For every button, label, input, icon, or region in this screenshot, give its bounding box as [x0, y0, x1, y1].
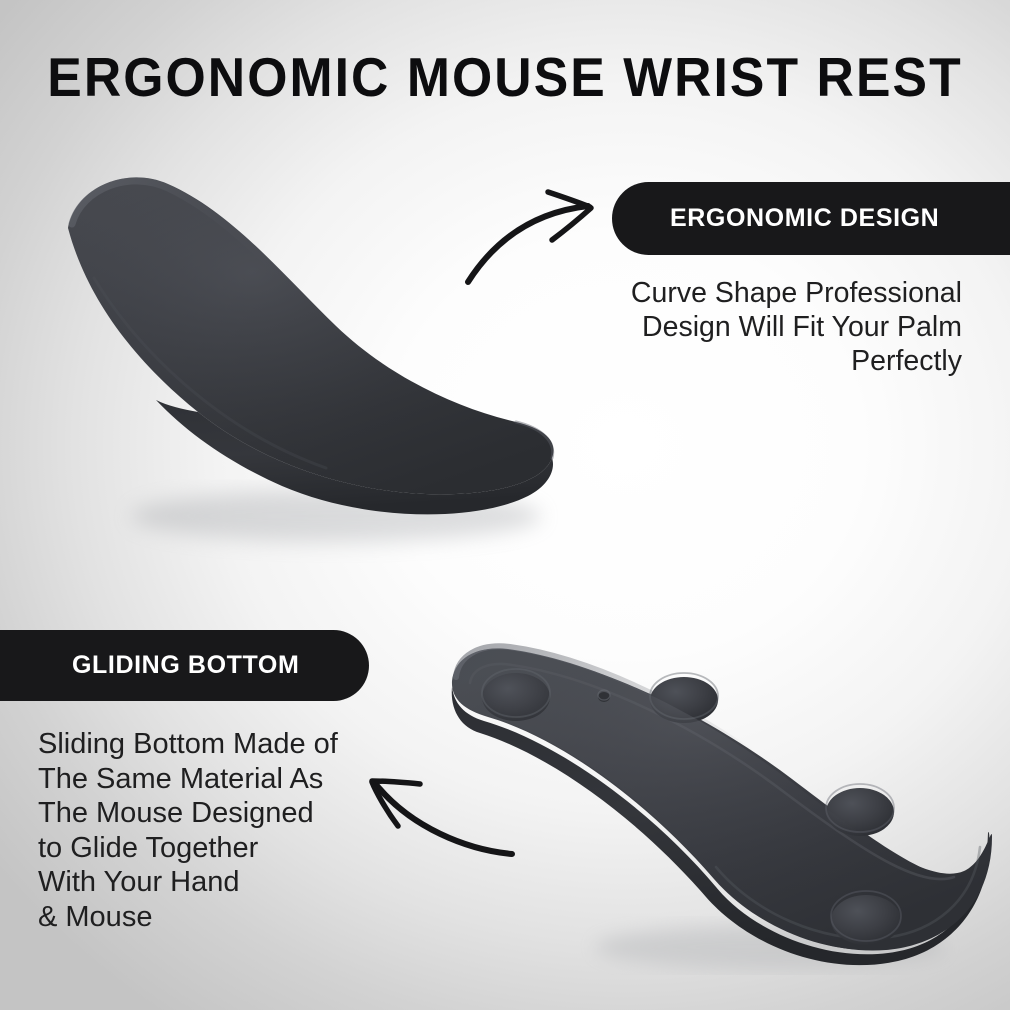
- feature-badge-ergonomic-design: ERGONOMIC DESIGN: [612, 182, 1010, 255]
- feature-description-gliding-bottom: Sliding Bottom Made of The Same Material…: [38, 727, 398, 934]
- badge-label: GLIDING BOTTOM: [72, 651, 299, 680]
- rubber-feet: [482, 669, 901, 945]
- product-image-wrist-rest-bottom: [440, 575, 1010, 975]
- product-image-wrist-rest-top: [36, 150, 596, 570]
- feature-description-ergonomic-design: Curve Shape Professional Design Will Fit…: [542, 276, 962, 378]
- badge-label: ERGONOMIC DESIGN: [670, 204, 939, 233]
- page-title: ERGONOMIC MOUSE WRIST REST: [30, 46, 979, 108]
- vent-hole: [598, 690, 610, 702]
- product-infographic: ERGONOMIC MOUSE WRIST REST: [0, 0, 1010, 1010]
- feature-badge-gliding-bottom: GLIDING BOTTOM: [0, 630, 369, 701]
